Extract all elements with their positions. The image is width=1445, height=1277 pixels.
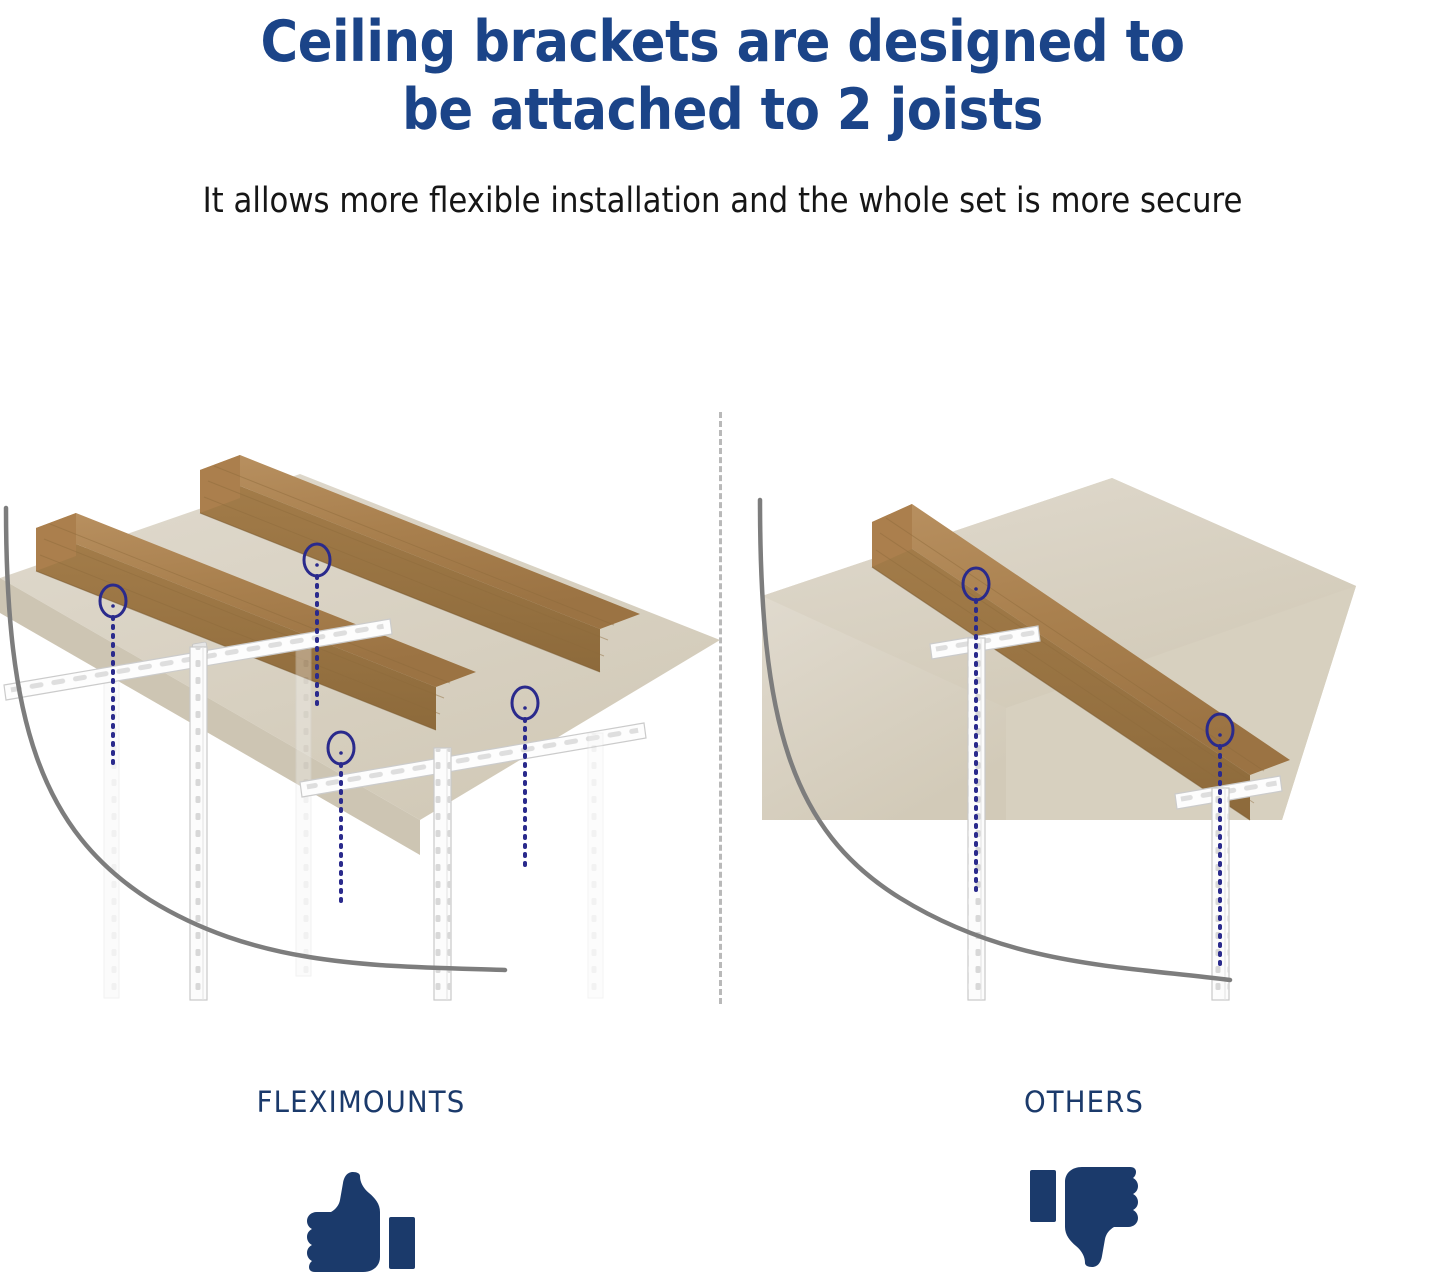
thumbs-up-icon — [301, 1167, 421, 1272]
page-subtitle: It allows more flexible installation and… — [87, 180, 1359, 222]
illustration-fleximounts — [0, 400, 720, 1020]
illustration-others — [720, 400, 1445, 1020]
verdict-negative — [723, 1167, 1445, 1272]
page-root: Ceiling brackets are designed to be atta… — [0, 0, 1445, 1277]
caption-label-others: OTHERS — [741, 1085, 1427, 1119]
caption-label-fleximounts: FLEXIMOUNTS — [18, 1085, 704, 1119]
bracket-post-front-1 — [190, 647, 207, 1000]
page-title: Ceiling brackets are designed to be atta… — [72, 0, 1373, 144]
thumbs-down-icon — [1024, 1167, 1144, 1272]
bracket-post-back-3 — [588, 733, 603, 998]
caption-others: OTHERS — [723, 1085, 1445, 1272]
captions-row: FLEXIMOUNTS OTHERS — [0, 1085, 1445, 1277]
bracket-post-front-2 — [434, 748, 451, 1000]
caption-fleximounts: FLEXIMOUNTS — [0, 1085, 722, 1272]
page-title-line-1: Ceiling brackets are designed to — [72, 8, 1373, 76]
page-title-line-2: be attached to 2 joists — [72, 76, 1373, 144]
bracket-post-back-2 — [296, 646, 311, 976]
header: Ceiling brackets are designed to be atta… — [0, 0, 1445, 222]
illustration-panels — [0, 400, 1445, 1020]
verdict-positive — [0, 1167, 722, 1272]
